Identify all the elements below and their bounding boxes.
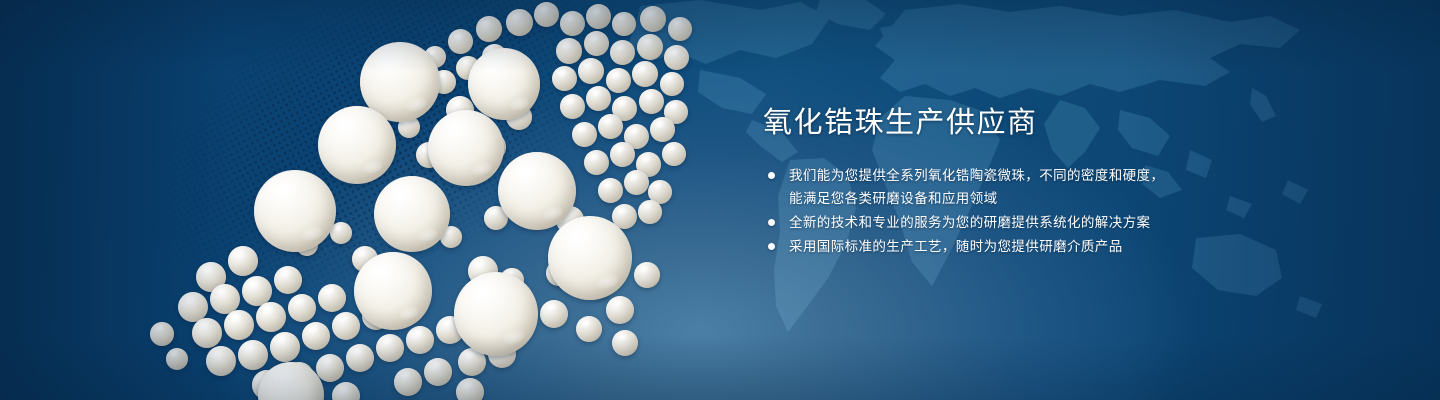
banner-bullet-list: 我们能为您提供全系列氧化锆陶瓷微珠，不同的密度和硬度， 能满足您各类研磨设备和应… — [763, 164, 1323, 258]
bullet-dot-icon — [768, 172, 775, 179]
bullet-line: 能满足您各类研磨设备和应用领域 — [789, 187, 1323, 210]
list-item: 采用国际标准的生产工艺，随时为您提供研磨介质产品 — [763, 235, 1323, 258]
banner-headline: 氧化锆珠生产供应商 — [763, 104, 1323, 142]
hero-banner: 氧化锆珠生产供应商 我们能为您提供全系列氧化锆陶瓷微珠，不同的密度和硬度， 能满… — [0, 0, 1440, 400]
bullet-dot-icon — [768, 219, 775, 226]
bullet-line: 采用国际标准的生产工艺，随时为您提供研磨介质产品 — [789, 235, 1323, 258]
bullet-line: 全新的技术和专业的服务为您的研磨提供系统化的解决方案 — [789, 211, 1323, 234]
bullet-line: 我们能为您提供全系列氧化锆陶瓷微珠，不同的密度和硬度， — [789, 164, 1323, 187]
list-item: 我们能为您提供全系列氧化锆陶瓷微珠，不同的密度和硬度， 能满足您各类研磨设备和应… — [763, 164, 1323, 210]
banner-copy: 氧化锆珠生产供应商 我们能为您提供全系列氧化锆陶瓷微珠，不同的密度和硬度， 能满… — [763, 104, 1323, 259]
list-item: 全新的技术和专业的服务为您的研磨提供系统化的解决方案 — [763, 211, 1323, 234]
bullet-dot-icon — [768, 243, 775, 250]
